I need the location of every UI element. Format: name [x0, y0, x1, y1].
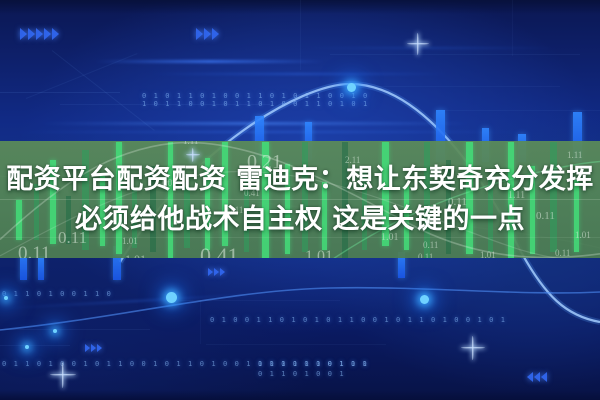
band-guide-line — [0, 237, 600, 238]
circuit-line — [360, 86, 560, 87]
band-guide-line — [0, 199, 600, 200]
glow-streak — [95, 60, 325, 63]
glow-streak — [150, 73, 450, 75]
circuit-line — [440, 110, 600, 111]
bottom-shadow-band — [0, 390, 600, 400]
green-overlay-band: 0.110.210.111.111.010.110.111.011.010.41… — [0, 141, 600, 258]
circuit-line — [206, 344, 386, 345]
glow-streak — [300, 47, 560, 49]
glow-dot — [420, 295, 429, 304]
glow-dot — [347, 83, 356, 92]
blue-bar — [38, 256, 44, 280]
chevron-arrow-icon — [85, 344, 102, 352]
circuit-line — [0, 345, 70, 346]
chevron-arrow-icon — [196, 28, 219, 40]
sparkle-icon — [461, 336, 485, 360]
headline-line-2: 必须给他战术自主权 这是关键的一点 — [0, 204, 600, 236]
circuit-line — [330, 54, 580, 55]
binary-text: 0 1 0 1 1 0 1 0 0 1 1 0 1 0 1 1 0 0 1 0 — [142, 92, 369, 100]
banner-graphic: 0.110.210.111.111.010.110.111.011.010.41… — [0, 0, 600, 400]
binary-text: 0 1 0 0 1 1 0 1 0 1 0 1 1 0 0 1 0 1 1 0 … — [210, 316, 507, 324]
chevron-arrow-icon — [208, 268, 225, 276]
chevron-arrow-icon — [527, 372, 547, 382]
binary-text: 0 1 1 0 1 0 0 1 — [258, 370, 345, 378]
sparkle-icon — [186, 148, 200, 162]
circuit-line — [180, 300, 340, 301]
binary-text: 0 1 1 0 1 0 0 1 1 0 — [2, 290, 112, 298]
binary-text: 1 0 1 1 0 0 1 0 1 1 0 1 0 0 1 1 0 1 0 1 — [142, 100, 369, 108]
sparkle-icon — [50, 362, 76, 388]
sparkle-icon — [407, 33, 429, 55]
chevron-arrow-icon — [20, 28, 59, 40]
glow-streak — [10, 131, 530, 133]
binary-text: 0 1 0 1 1 0 0 1 0 1 — [258, 360, 368, 368]
circuit-line — [0, 329, 150, 330]
circuit-line — [0, 92, 120, 93]
circuit-line — [200, 300, 201, 344]
glow-dot — [25, 345, 29, 349]
glow-dot — [53, 329, 57, 333]
headline-line-1: 配资平台配资配资 雷迪克：想让东契奇充分发挥 — [0, 164, 600, 196]
glow-dot — [4, 296, 8, 300]
glow-dot — [166, 292, 177, 303]
